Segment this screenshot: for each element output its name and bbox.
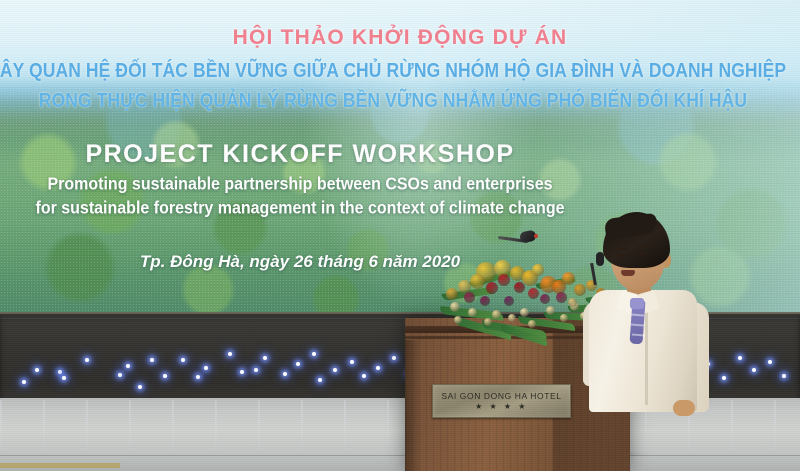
- fairy-light: [138, 385, 142, 389]
- fairy-light: [254, 368, 258, 372]
- flower-blossom: [492, 310, 501, 319]
- podium-left-edge: [405, 340, 421, 471]
- banner-english-line2: for sustainable forestry management in t…: [0, 199, 610, 219]
- banner-english-title: PROJECT KICKOFF WORKSHOP: [0, 140, 610, 169]
- speaker-mouth: [621, 270, 635, 276]
- fairy-light: [163, 374, 167, 378]
- flower-blossom: [454, 316, 462, 324]
- flower-blossom: [464, 292, 475, 303]
- flower-blossom: [514, 282, 525, 293]
- flower-blossom: [532, 264, 544, 276]
- fairy-light: [752, 368, 756, 372]
- flower-blossom: [484, 318, 492, 326]
- banner-vietnamese-title: HỘI THẢO KHỞI ĐỘNG DỰ ÁN: [0, 26, 800, 50]
- flower-blossom: [470, 274, 485, 289]
- fairy-light: [318, 378, 322, 382]
- speaker-brow-left: [617, 248, 627, 250]
- fairy-light: [228, 352, 232, 356]
- fairy-light: [22, 380, 26, 384]
- fairy-light: [58, 370, 62, 374]
- fairy-light: [126, 364, 130, 368]
- plaque-star-rating: ★ ★ ★ ★: [475, 402, 528, 411]
- fairy-light: [62, 376, 66, 380]
- flower-blossom: [508, 314, 516, 322]
- fairy-light: [204, 366, 208, 370]
- fairy-light: [181, 358, 185, 362]
- fairy-light: [263, 356, 267, 360]
- speaker-eye-left: [618, 254, 626, 257]
- photo-scene: HỘI THẢO KHỞI ĐỘNG DỰ ÁN ÂY QUAN HỆ ĐỐI …: [0, 0, 800, 471]
- banner-vietnamese-line2: ÂY QUAN HỆ ĐỐI TÁC BỀN VỮNG GIỮA CHỦ RỪN…: [0, 58, 800, 83]
- speaker-hand: [673, 400, 695, 416]
- flower-blossom: [504, 296, 514, 306]
- fairy-light: [768, 360, 772, 364]
- flower-blossom: [574, 284, 586, 296]
- fairy-light: [240, 370, 244, 374]
- speaker-person: [575, 212, 740, 412]
- microphone-secondary-icon: [596, 252, 604, 266]
- fairy-light: [333, 368, 337, 372]
- fairy-light: [118, 373, 122, 377]
- fairy-light: [296, 362, 300, 366]
- banner-vietnamese-line3: RONG THỰC HIỆN QUẢN LÝ RỪNG BỀN VỮNG NHẰ…: [0, 88, 800, 113]
- flower-blossom: [540, 294, 550, 304]
- flower-blossom: [562, 272, 575, 285]
- flower-blossom: [450, 302, 460, 312]
- flower-blossom: [498, 274, 510, 286]
- fairy-light: [782, 374, 786, 378]
- flower-blossom: [468, 308, 477, 317]
- flower-blossom: [556, 292, 567, 303]
- banner-english-line1: Promoting sustainable partnership betwee…: [0, 175, 610, 195]
- plaque-hotel-name: SAI GON DONG HA HOTEL: [441, 391, 561, 401]
- speaker-tie-knot: [630, 298, 644, 309]
- fairy-light: [392, 356, 396, 360]
- fairy-light: [350, 360, 354, 364]
- microphone-indicator-light: [534, 234, 538, 238]
- fairy-light: [35, 368, 39, 372]
- flower-blossom: [568, 298, 577, 307]
- flower-blossom: [528, 288, 539, 299]
- fairy-light: [312, 352, 316, 356]
- flower-blossom: [486, 282, 498, 294]
- flower-blossom: [520, 308, 529, 317]
- flower-blossom: [560, 314, 568, 322]
- shirt-placket: [645, 310, 648, 405]
- flower-blossom: [528, 320, 536, 328]
- fairy-light: [376, 366, 380, 370]
- flower-blossom: [446, 288, 458, 300]
- fairy-light: [362, 374, 366, 378]
- flower-blossom: [546, 306, 555, 315]
- flower-blossom: [480, 296, 490, 306]
- speaker-eye-right: [638, 252, 646, 255]
- podium-plaque: SAI GON DONG HA HOTEL ★ ★ ★ ★: [432, 384, 571, 418]
- speaker-brow-right: [637, 246, 647, 248]
- floor-edge-strip: [0, 463, 120, 468]
- fairy-light: [150, 358, 154, 362]
- fairy-light: [85, 358, 89, 362]
- fairy-light: [196, 375, 200, 379]
- fairy-light: [283, 372, 287, 376]
